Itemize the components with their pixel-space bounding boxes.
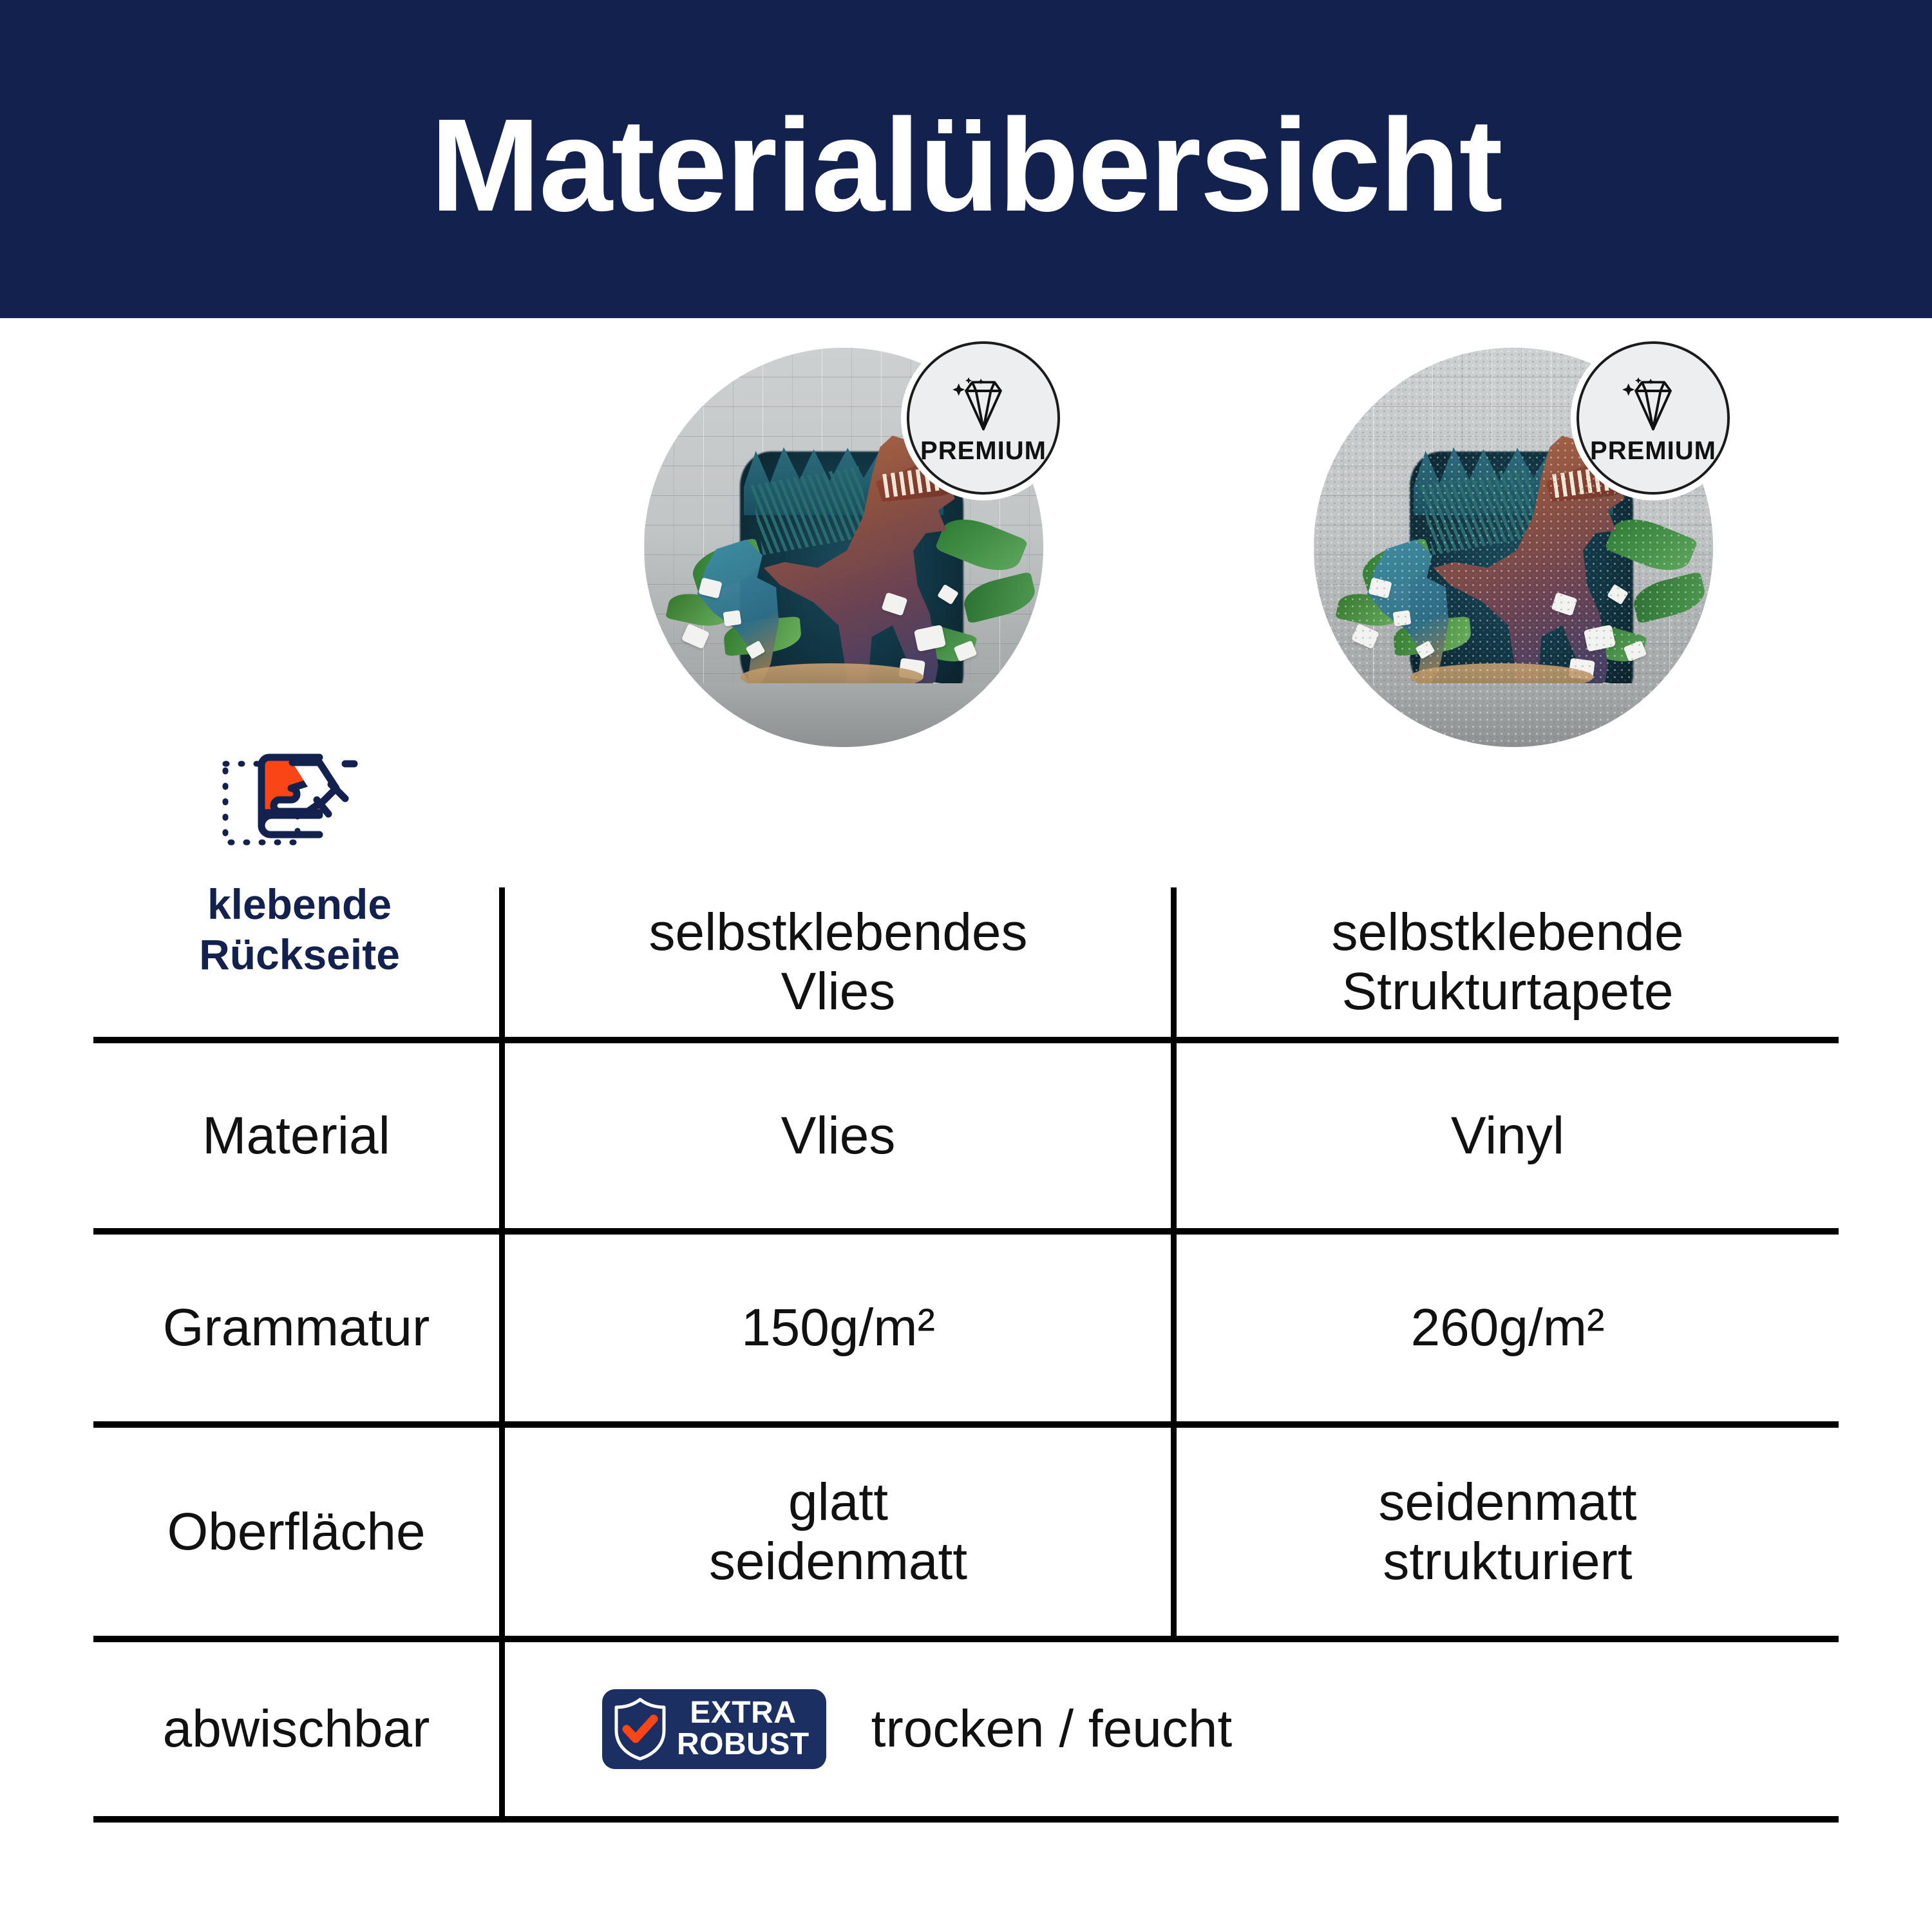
extra-robust-line2: ROBUST [677,1729,810,1761]
table-row: 260g/m² [1177,1235,1839,1421]
row-label-abwischbar: abwischbar [163,1700,430,1759]
table-row: selbstklebendes Vlies [506,887,1171,1037]
cell-value-oberflaeche-vlies: glatt seidenmatt [709,1473,967,1591]
premium-badge: PREMIUM [907,341,1060,495]
cell-value-grammatur-vinyl: 260g/m² [1411,1298,1605,1358]
table-row: Vlies [506,1043,1171,1228]
product-preview-vlies[interactable]: PREMIUM [644,341,1056,753]
table-row: Grammatur [93,1235,499,1421]
row-divider-1 [93,1037,1839,1043]
table-row: seidenmatt strukturiert [1177,1428,1839,1636]
product-preview-row: PREMIUM [0,341,1932,760]
cell-value-oberflaeche-vinyl: seidenmatt strukturiert [1378,1473,1636,1591]
cell-line1: selbstklebende [1331,903,1683,961]
diamond-icon [1615,375,1691,434]
cell-value-grammatur-vlies: 150g/m² [741,1298,935,1358]
diamond-icon [945,375,1021,434]
table-row: Vinyl [1177,1043,1839,1228]
adhesive-backing-label: klebende Rückseite [199,880,400,980]
cell-value-selbstklebendes-vlies: selbstklebendes Vlies [649,903,1027,1021]
row-label-oberflaeche: Oberfläche [167,1502,425,1562]
column-divider-1 [499,887,505,1823]
cell-line1: seidenmatt [1378,1473,1636,1531]
extra-robust-badge: EXTRA ROBUST [602,1689,826,1769]
cell-line1: glatt [788,1473,888,1531]
row-label-grammatur: Grammatur [163,1298,430,1358]
cell-value-selbstklebende-strukturtapete: selbstklebende Strukturtapete [1331,903,1683,1021]
column-divider-2 [1171,887,1177,1641]
peel-adhesive-backing-icon [219,747,380,863]
table-row: Oberfläche [93,1428,499,1636]
cell-line2: Vlies [781,962,896,1021]
product-preview-strukturtapete[interactable]: PREMIUM [1314,341,1726,753]
cell-value-abwischbar: trocken / feucht [871,1700,1233,1759]
premium-badge-label: PREMIUM [920,437,1046,466]
row-label-material: Material [202,1106,390,1166]
cell-line2: Strukturtapete [1341,962,1673,1021]
table-row: selbstklebende Strukturtapete [1177,887,1839,1037]
cell-line1: selbstklebendes [649,903,1027,961]
row-divider-4 [93,1636,1839,1642]
cell-value-material-vinyl: Vinyl [1451,1106,1564,1166]
page-header: Materialübersicht [0,0,1932,318]
table-row: Material [93,1043,499,1228]
adhesive-backing-label-line1: klebende [207,880,392,928]
adhesive-backing-label-line2: Rückseite [199,931,400,978]
table-row: abwischbar [93,1642,499,1816]
cell-line2: strukturiert [1383,1532,1632,1591]
material-comparison-table: klebende Rückseite selbstklebendes Vlies… [93,760,1839,1823]
extra-robust-line1: EXTRA [677,1698,810,1729]
table-bottom-border [93,1816,1839,1823]
row-divider-3 [93,1421,1839,1428]
page-title: Materialübersicht [430,99,1501,231]
premium-badge-label: PREMIUM [1590,437,1716,466]
table-row: 150g/m² [506,1235,1171,1421]
cell-value-material-vlies: Vlies [781,1106,896,1166]
adhesive-backing-feature: klebende Rückseite [93,747,506,1030]
table-row: glatt seidenmatt [506,1428,1171,1636]
shield-check-icon [612,1697,668,1761]
premium-badge: PREMIUM [1577,341,1730,495]
cell-line2: seidenmatt [709,1532,967,1591]
row-divider-2 [93,1228,1839,1235]
table-row: EXTRA ROBUST trocken / feucht [506,1642,1839,1816]
